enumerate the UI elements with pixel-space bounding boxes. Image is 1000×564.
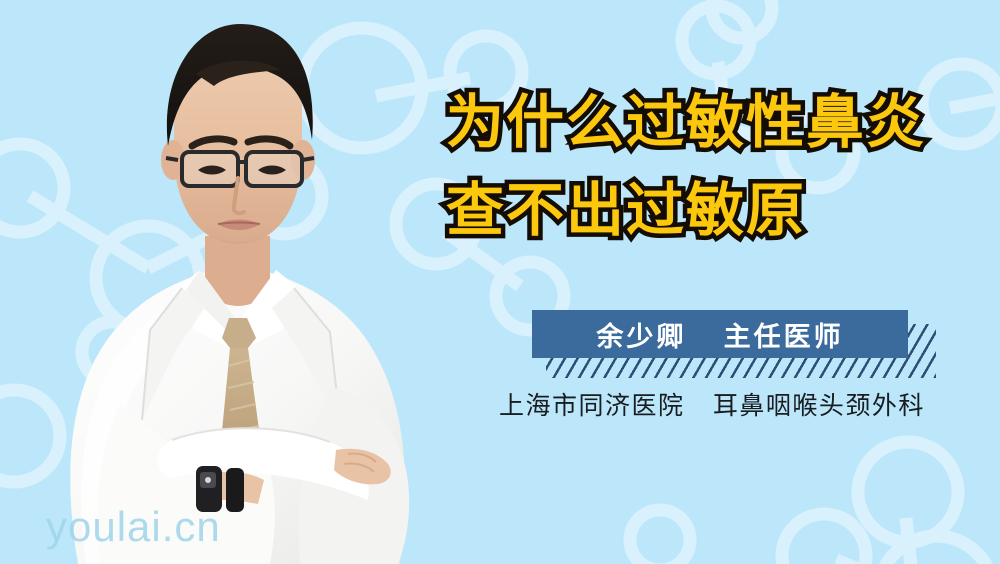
doctor-name-banner: 余少卿 主任医师 <box>532 310 922 372</box>
video-thumbnail: 为什么过敏性鼻炎 查不出过敏原 余少卿 主任医师 上海市同济医院 耳鼻咽喉头颈外… <box>0 0 1000 564</box>
headline-line-1: 为什么过敏性鼻炎 <box>446 76 986 168</box>
affiliation-text: 上海市同济医院 耳鼻咽喉头颈外科 <box>499 386 925 422</box>
banner-bar: 余少卿 主任医师 <box>532 310 908 358</box>
doctor-portrait-photo <box>0 0 470 564</box>
headline: 为什么过敏性鼻炎 查不出过敏原 <box>446 76 986 256</box>
doctor-name-title-text: 余少卿 主任医师 <box>596 315 843 354</box>
site-watermark: youlai.cn <box>46 503 221 551</box>
headline-line-2: 查不出过敏原 <box>446 164 986 256</box>
